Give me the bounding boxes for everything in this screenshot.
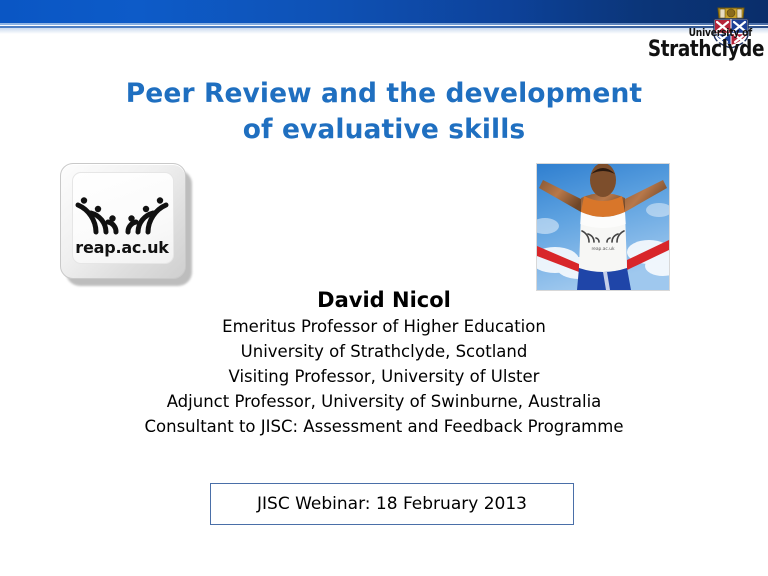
presenter-affiliation: Emeritus Professor of Higher Education (24, 314, 744, 339)
reap-wave-icon (72, 172, 172, 242)
presentation-slide: University of Strathclyde Peer Review an… (0, 0, 768, 576)
university-name-line2: Strathclyde (648, 39, 752, 61)
athlete-photo: reap.ac.uk (536, 163, 670, 291)
presenter-affiliation: University of Strathclyde, Scotland (24, 339, 744, 364)
title-line-2: of evaluative skills (64, 112, 704, 148)
presenter-name: David Nicol (24, 286, 744, 314)
webinar-label: JISC Webinar: 18 February 2013 (257, 494, 527, 514)
reap-logo: reap.ac.uk (60, 163, 192, 286)
webinar-info-box: JISC Webinar: 18 February 2013 (210, 483, 574, 525)
reap-logo-label: reap.ac.uk (60, 238, 184, 257)
university-logo: University of Strathclyde (636, 3, 760, 65)
presenter-affiliation: Adjunct Professor, University of Swinbur… (24, 389, 744, 414)
title-line-1: Peer Review and the development (126, 78, 642, 109)
presenter-affiliation: Visiting Professor, University of Ulster (24, 364, 744, 389)
svg-text:reap.ac.uk: reap.ac.uk (591, 246, 615, 252)
university-wordmark: University of Strathclyde (640, 27, 752, 61)
presenter-affiliation: Consultant to JISC: Assessment and Feedb… (24, 414, 744, 439)
presenter-details: David Nicol Emeritus Professor of Higher… (24, 286, 744, 439)
athlete-photo-image: reap.ac.uk (537, 164, 669, 290)
page-title: Peer Review and the development of evalu… (64, 76, 704, 148)
